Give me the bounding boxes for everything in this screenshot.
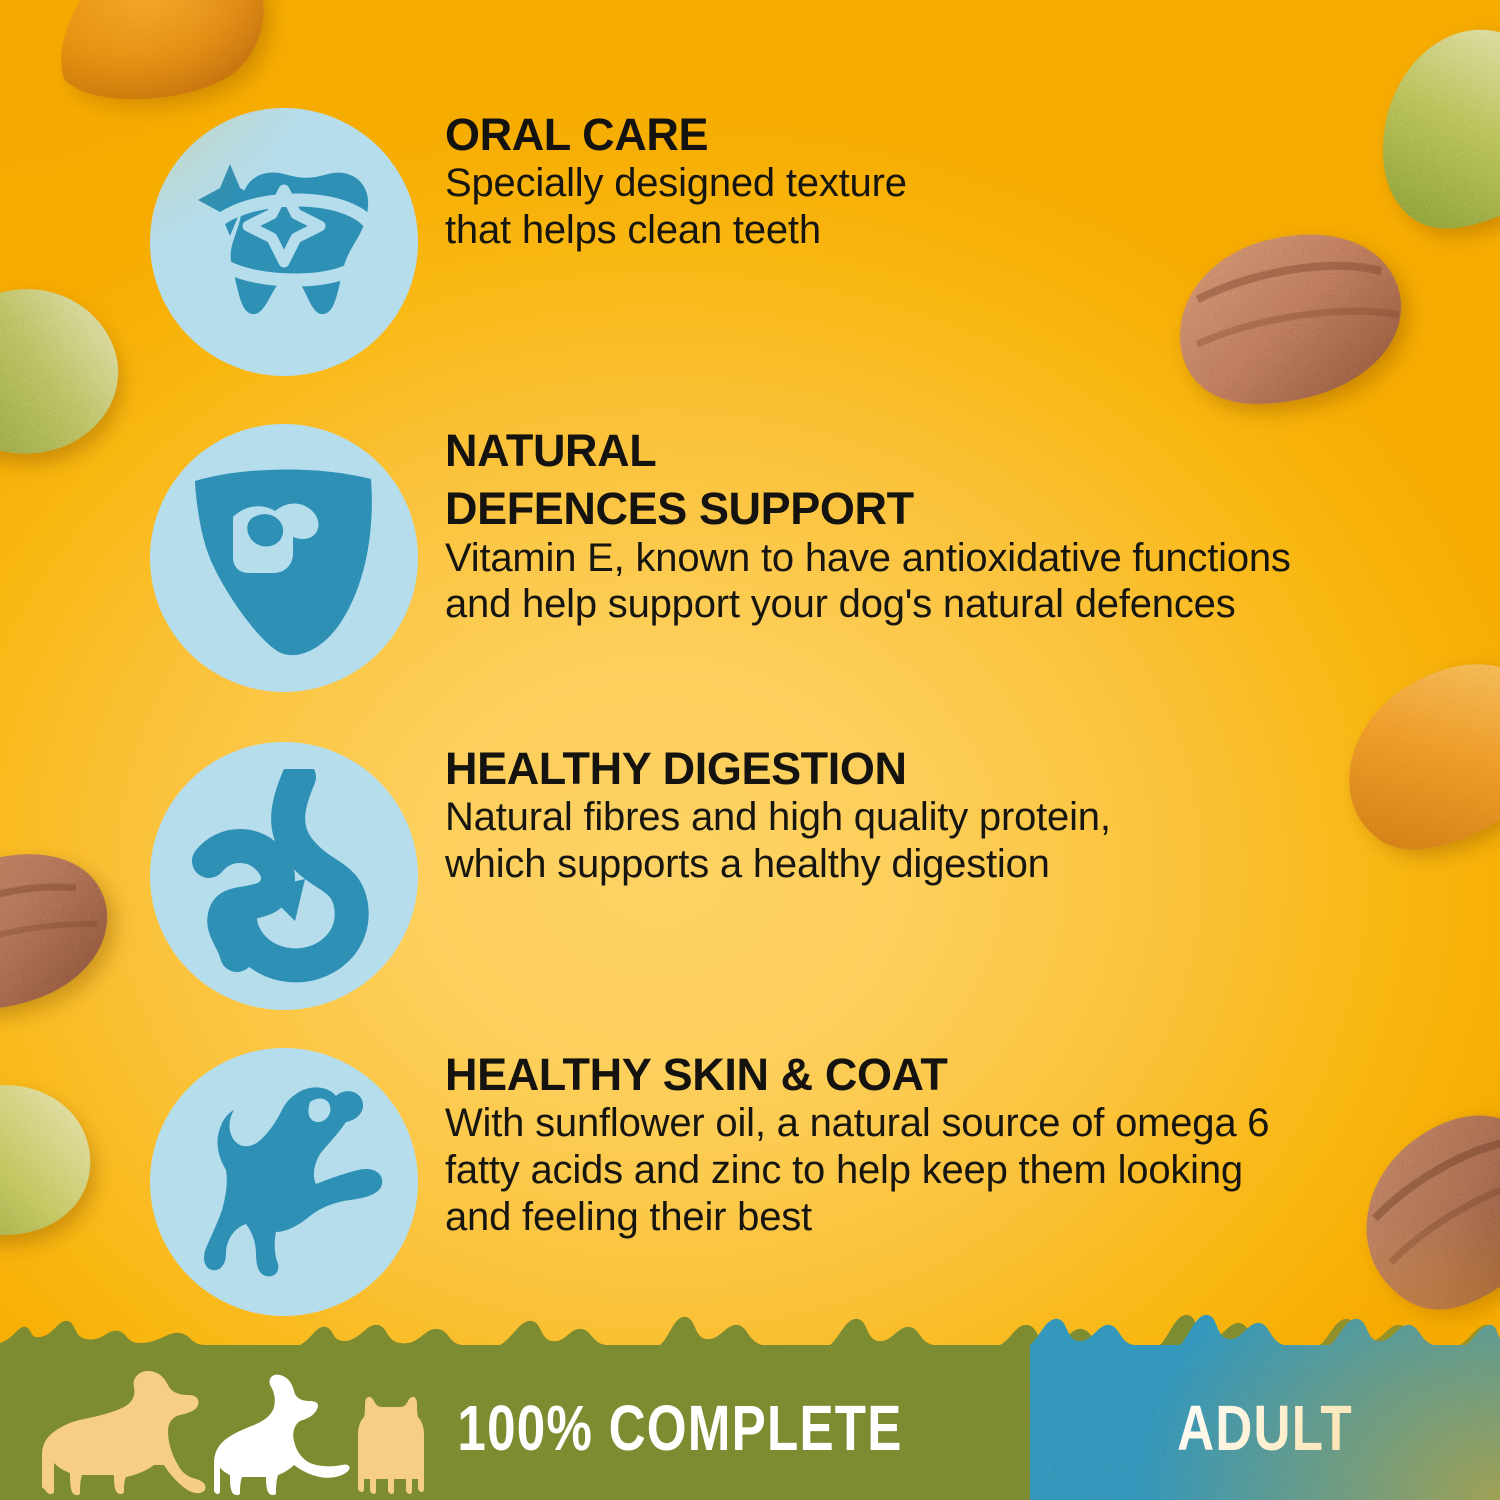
medium-dog-silhouette [214, 1375, 350, 1495]
large-dog-silhouette [42, 1371, 206, 1495]
benefit-body-line: which supports a healthy digestion [445, 841, 1111, 888]
shield-dog-head-icon [150, 424, 418, 692]
benefit-heading: NATURAL [445, 428, 1291, 474]
benefit-body: Specially designed texture that helps cl… [445, 160, 907, 254]
benefit-copy: NATURAL DEFENCES SUPPORT Vitamin E, know… [418, 424, 1291, 628]
stomach-icon [150, 742, 418, 1010]
benefit-row-oral-care: ORAL CARE Specially designed texture tha… [150, 108, 907, 376]
benefit-heading-line-2: DEFENCES SUPPORT [445, 486, 1291, 532]
complete-label: 100% COMPLETE [400, 1355, 960, 1500]
benefit-row-healthy-digestion: HEALTHY DIGESTION Natural fibres and hig… [150, 742, 1111, 1010]
product-feature-panel: ORAL CARE Specially designed texture tha… [0, 0, 1500, 1500]
benefit-body: Natural fibres and high quality protein,… [445, 794, 1111, 888]
benefit-body-line: Natural fibres and high quality protein, [445, 794, 1111, 841]
benefit-body-line: Specially designed texture [445, 160, 907, 207]
benefit-heading: HEALTHY SKIN & COAT [445, 1052, 1269, 1098]
benefit-heading: HEALTHY DIGESTION [445, 746, 1111, 792]
benefit-copy: HEALTHY SKIN & COAT With sunflower oil, … [418, 1048, 1269, 1241]
benefit-copy: ORAL CARE Specially designed texture tha… [418, 108, 907, 254]
benefit-body-line: fatty acids and zinc to help keep them l… [445, 1147, 1269, 1194]
jumping-dog-sparkle-icon [150, 1048, 418, 1316]
benefit-heading: ORAL CARE [445, 112, 907, 158]
benefit-body-line: With sunflower oil, a natural source of … [445, 1100, 1269, 1147]
benefit-row-natural-defences: NATURAL DEFENCES SUPPORT Vitamin E, know… [150, 424, 1291, 692]
benefit-body: With sunflower oil, a natural source of … [445, 1100, 1269, 1240]
stomach-glyph [179, 769, 389, 984]
benefit-body: Vitamin E, known to have antioxidative f… [445, 535, 1291, 629]
tooth-sparkle-icon [150, 108, 418, 376]
benefit-copy: HEALTHY DIGESTION Natural fibres and hig… [418, 742, 1111, 888]
shield-dog-head-glyph [189, 461, 379, 656]
benefits-list: ORAL CARE Specially designed texture tha… [0, 0, 1500, 1340]
benefit-body-line: and feeling their best [445, 1194, 1269, 1241]
bottom-band: 100% COMPLETE ADULT [0, 1355, 1500, 1500]
benefit-row-healthy-skin-coat: HEALTHY SKIN & COAT With sunflower oil, … [150, 1048, 1269, 1316]
benefit-body-line: that helps clean teeth [445, 207, 907, 254]
dog-silhouettes [36, 1363, 436, 1495]
benefit-body-line: Vitamin E, known to have antioxidative f… [445, 535, 1291, 582]
benefit-body-line: and help support your dog's natural defe… [445, 581, 1291, 628]
adult-label: ADULT [1077, 1355, 1453, 1500]
tooth-sparkle-glyph [184, 142, 384, 342]
jumping-dog-sparkle-glyph [178, 1082, 390, 1282]
